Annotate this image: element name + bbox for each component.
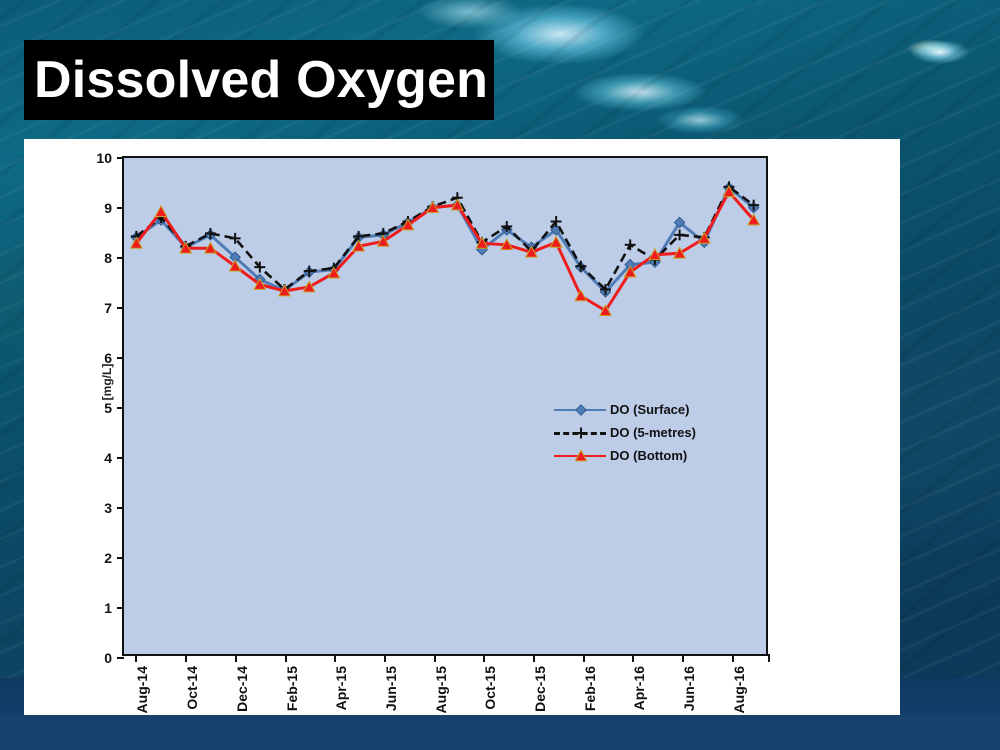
data-point-marker-triangle (575, 290, 587, 301)
y-axis-tick-mark (117, 307, 124, 309)
data-point-marker-diamond (576, 404, 586, 414)
x-axis-tick-mark (185, 654, 187, 662)
y-axis-tick-mark (117, 507, 124, 509)
x-axis-tick-mark (334, 654, 336, 662)
y-axis-tick-mark (117, 357, 124, 359)
legend-item-3[interactable]: DO (Bottom) (554, 444, 696, 467)
data-point-marker-plus (576, 427, 587, 438)
x-axis-tick-label-Feb-15: Feb-15 (284, 666, 300, 711)
legend-item-1[interactable]: DO (Surface) (554, 398, 696, 421)
x-axis-tick-label-Oct-14: Oct-14 (184, 666, 200, 710)
y-axis-tick-mark (117, 557, 124, 559)
y-axis-tick-mark (117, 657, 124, 659)
legend-key-icon (554, 401, 606, 419)
plot-area: [mg/L] DO (Surface)DO (5-metres)DO (Bott… (122, 156, 768, 656)
x-axis-tick-label-Oct-15: Oct-15 (482, 666, 498, 710)
page-title: Dissolved Oxygen (34, 44, 494, 116)
x-axis-tick-label-Aug-14: Aug-14 (134, 666, 150, 713)
x-axis-tick-mark (632, 654, 634, 662)
x-axis-tick-mark (285, 654, 287, 662)
data-point-marker-triangle (155, 206, 167, 217)
legend-label: DO (5-metres) (610, 425, 696, 440)
x-axis-tick-mark (483, 654, 485, 662)
x-axis-tick-label-Apr-15: Apr-15 (333, 666, 349, 710)
x-axis-tick-label-Jun-15: Jun-15 (383, 666, 399, 711)
chart-legend: DO (Surface)DO (5-metres)DO (Bottom) (554, 398, 696, 467)
chart-card: [mg/L] DO (Surface)DO (5-metres)DO (Bott… (24, 139, 900, 715)
x-axis-tick-label-Apr-16: Apr-16 (631, 666, 647, 710)
y-axis-tick-mark (117, 607, 124, 609)
legend-key-icon (554, 424, 606, 442)
x-axis-tick-mark (768, 654, 770, 662)
legend-label: DO (Bottom) (610, 448, 687, 463)
legend-item-2[interactable]: DO (5-metres) (554, 421, 696, 444)
x-axis-tick-label-Aug-16: Aug-16 (731, 666, 747, 713)
x-axis-tick-mark (682, 654, 684, 662)
legend-key-icon (554, 447, 606, 465)
x-axis-tick-mark (533, 654, 535, 662)
x-axis-tick-label-Dec-14: Dec-14 (234, 666, 250, 712)
x-axis-tick-mark (434, 654, 436, 662)
x-axis-tick-mark (732, 654, 734, 662)
data-point-marker-plus (625, 239, 636, 250)
x-axis-tick-label-Feb-16: Feb-16 (582, 666, 598, 711)
background-bottom-band-inner (0, 714, 1000, 750)
x-axis-tick-mark (135, 654, 137, 662)
y-axis-tick-mark (117, 457, 124, 459)
x-axis-tick-mark (235, 654, 237, 662)
y-axis-tick-mark (117, 157, 124, 159)
y-axis-tick-mark (117, 207, 124, 209)
x-axis-tick-label-Jun-16: Jun-16 (681, 666, 697, 711)
y-axis-tick-mark (117, 257, 124, 259)
x-axis-tick-label-Aug-15: Aug-15 (433, 666, 449, 713)
series-line-do-5-metres (136, 187, 753, 290)
y-axis-tick-mark (117, 407, 124, 409)
x-axis-tick-mark (583, 654, 585, 662)
data-point-marker-triangle (575, 450, 587, 461)
x-axis-tick-label-Dec-15: Dec-15 (532, 666, 548, 712)
legend-label: DO (Surface) (610, 402, 689, 417)
slide: Dissolved Oxygen [mg/L] DO (Surface)DO (… (0, 0, 1000, 750)
x-axis-tick-mark (384, 654, 386, 662)
